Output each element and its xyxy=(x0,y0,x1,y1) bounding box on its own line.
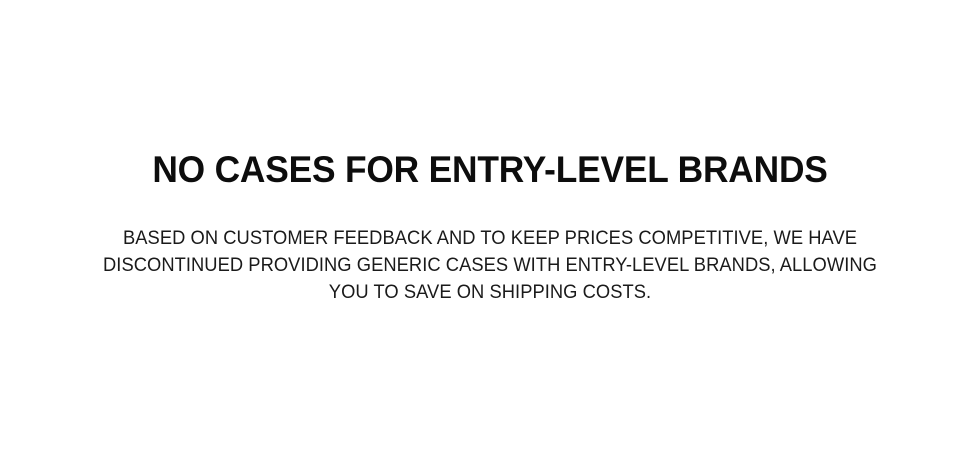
notice-heading: NO CASES FOR ENTRY-LEVEL BRANDS xyxy=(22,150,958,190)
notice-body-line: DISCONTINUED PROVIDING GENERIC CASES WIT… xyxy=(17,252,963,279)
notice-body: BASED ON CUSTOMER FEEDBACK AND TO KEEP P… xyxy=(0,225,980,306)
notice-banner: NO CASES FOR ENTRY-LEVEL BRANDS BASED ON… xyxy=(0,0,980,450)
notice-body-line: YOU TO SAVE ON SHIPPING COSTS. xyxy=(17,279,963,306)
notice-body-line: BASED ON CUSTOMER FEEDBACK AND TO KEEP P… xyxy=(17,225,963,252)
